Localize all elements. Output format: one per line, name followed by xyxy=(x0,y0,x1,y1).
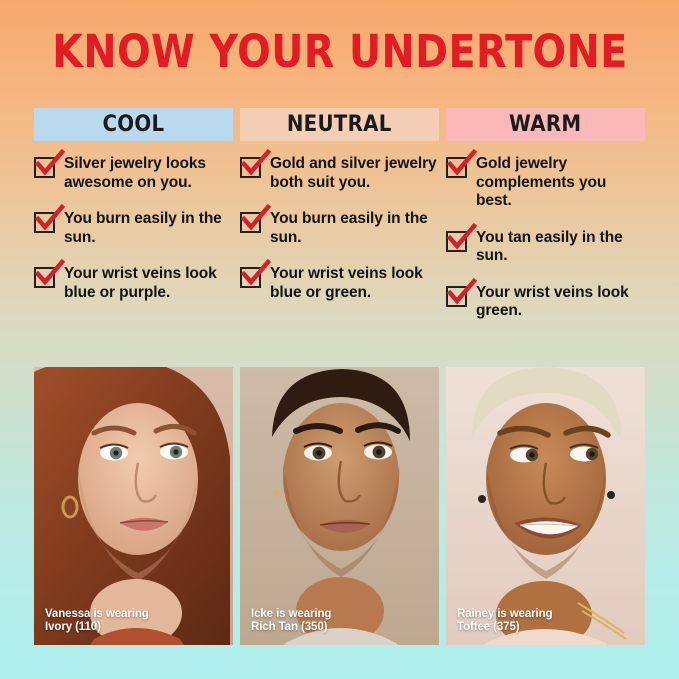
caption-line-2: Toffee (375) xyxy=(457,621,552,634)
list-item-text: Your wrist veins look green. xyxy=(476,284,645,321)
check-icon xyxy=(241,206,271,234)
photo-caption-warm: Rainey is wearing Toffee (375) xyxy=(457,608,552,634)
checklist-neutral: Gold and silver jewelry both suit you. Y… xyxy=(240,155,439,302)
column-header-label-cool: COOL xyxy=(103,112,165,137)
checkbox-checked[interactable] xyxy=(446,231,467,252)
caption-line-1: Vanessa is wearing xyxy=(45,608,149,621)
check-icon xyxy=(35,206,65,234)
checkbox-checked[interactable] xyxy=(34,267,55,288)
list-item-text: Gold jewelry complements you best. xyxy=(476,155,645,211)
checkbox-checked[interactable] xyxy=(446,157,467,178)
list-item-text: Your wrist veins look blue or green. xyxy=(270,265,439,302)
list-item-text: Your wrist veins look blue or purple. xyxy=(64,265,233,302)
check-icon xyxy=(35,151,65,179)
list-item-text: Gold and silver jewelry both suit you. xyxy=(270,155,439,192)
checkbox-checked[interactable] xyxy=(34,157,55,178)
column-header-label-warm: WARM xyxy=(509,112,581,137)
column-neutral: NEUTRAL Gold and silver jewelry both sui… xyxy=(240,108,439,339)
column-header-cool: COOL xyxy=(34,108,233,141)
list-item: You burn easily in the sun. xyxy=(240,210,439,247)
undertone-columns: COOL Silver jewelry looks awesome on you… xyxy=(34,108,646,339)
column-header-neutral: NEUTRAL xyxy=(240,108,439,141)
column-warm: WARM Gold jewelry complements you best. xyxy=(446,108,645,339)
list-item-text: You burn easily in the sun. xyxy=(270,210,439,247)
list-item: You tan easily in the sun. xyxy=(446,229,645,266)
undertone-infographic: KNOW YOUR UNDERTONE COOL Silver jewelry … xyxy=(0,0,679,679)
list-item-text: You tan easily in the sun. xyxy=(476,229,645,266)
check-icon xyxy=(447,225,477,253)
caption-line-2: Ivory (110) xyxy=(45,621,149,634)
checkbox-checked[interactable] xyxy=(34,212,55,233)
checkbox-checked[interactable] xyxy=(240,267,261,288)
portrait-image-warm xyxy=(446,367,645,645)
photo-card-warm[interactable]: Rainey is wearing Toffee (375) xyxy=(446,367,645,645)
list-item: Gold and silver jewelry both suit you. xyxy=(240,155,439,192)
page-title-wrap: KNOW YOUR UNDERTONE xyxy=(0,27,679,77)
photo-card-neutral[interactable]: Icke is wearing Rich Tan (350) xyxy=(240,367,439,645)
photo-caption-neutral: Icke is wearing Rich Tan (350) xyxy=(251,608,331,634)
list-item-text: Silver jewelry looks awesome on you. xyxy=(64,155,233,192)
checkbox-checked[interactable] xyxy=(446,286,467,307)
check-icon xyxy=(241,151,271,179)
column-header-warm: WARM xyxy=(446,108,645,141)
portrait-image-neutral xyxy=(240,367,439,645)
list-item: Silver jewelry looks awesome on you. xyxy=(34,155,233,192)
page-title: KNOW YOUR UNDERTONE xyxy=(52,27,627,77)
checkbox-checked[interactable] xyxy=(240,157,261,178)
caption-line-1: Rainey is wearing xyxy=(457,608,552,621)
list-item-text: You burn easily in the sun. xyxy=(64,210,233,247)
column-cool: COOL Silver jewelry looks awesome on you… xyxy=(34,108,233,339)
check-icon xyxy=(447,151,477,179)
list-item: Your wrist veins look blue or purple. xyxy=(34,265,233,302)
check-icon xyxy=(35,261,65,289)
column-header-label-neutral: NEUTRAL xyxy=(287,112,392,137)
list-item: Gold jewelry complements you best. xyxy=(446,155,645,211)
check-icon xyxy=(447,280,477,308)
model-photo-row: Vanessa is wearing Ivory (110) xyxy=(34,367,646,645)
list-item: Your wrist veins look blue or green. xyxy=(240,265,439,302)
list-item: You burn easily in the sun. xyxy=(34,210,233,247)
caption-line-2: Rich Tan (350) xyxy=(251,621,331,634)
photo-caption-cool: Vanessa is wearing Ivory (110) xyxy=(45,608,149,634)
checklist-warm: Gold jewelry complements you best. You t… xyxy=(446,155,645,321)
check-icon xyxy=(241,261,271,289)
caption-line-1: Icke is wearing xyxy=(251,608,331,621)
portrait-image-cool xyxy=(34,367,233,645)
list-item: Your wrist veins look green. xyxy=(446,284,645,321)
checkbox-checked[interactable] xyxy=(240,212,261,233)
photo-card-cool[interactable]: Vanessa is wearing Ivory (110) xyxy=(34,367,233,645)
checklist-cool: Silver jewelry looks awesome on you. You… xyxy=(34,155,233,302)
